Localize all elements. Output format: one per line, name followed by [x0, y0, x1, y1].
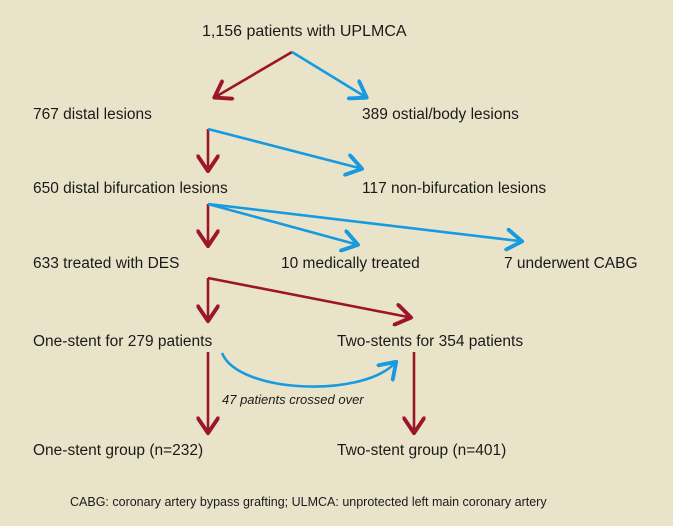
node-distal-lesions: 767 distal lesions — [33, 107, 152, 123]
edge-root-to-distal — [217, 52, 292, 96]
node-root: 1,156 patients with UPLMCA — [202, 24, 407, 40]
node-distal-bifurcation-lesions: 650 distal bifurcation lesions — [33, 181, 228, 197]
node-one-stent-group: One-stent group (n=232) — [33, 443, 203, 459]
edge-bifurcation-to-medical — [208, 204, 355, 244]
footnote-abbreviations: CABG: coronary artery bypass grafting; U… — [70, 496, 547, 509]
edge-root-to-ostial — [292, 52, 364, 96]
edge-crossover — [222, 353, 394, 387]
node-medically-treated: 10 medically treated — [281, 256, 420, 272]
edge-label-crossover: 47 patients crossed over — [222, 393, 364, 406]
node-underwent-cabg: 7 underwent CABG — [504, 256, 638, 272]
edge-des-to-two-stents — [208, 278, 408, 317]
edge-bifurcation-to-cabg — [208, 204, 519, 241]
edge-distal-to-nonbifurcation — [208, 129, 359, 168]
flowchart-figure: 1,156 patients with UPLMCA 767 distal le… — [0, 0, 673, 526]
node-ostial-body-lesions: 389 ostial/body lesions — [362, 107, 519, 123]
node-treated-with-des: 633 treated with DES — [33, 256, 179, 272]
node-two-stents-for-patients: Two-stents for 354 patients — [337, 334, 523, 350]
node-non-bifurcation-lesions: 117 non-bifurcation lesions — [362, 181, 546, 197]
node-one-stent-for-patients: One-stent for 279 patients — [33, 334, 212, 350]
node-two-stent-group: Two-stent group (n=401) — [337, 443, 506, 459]
